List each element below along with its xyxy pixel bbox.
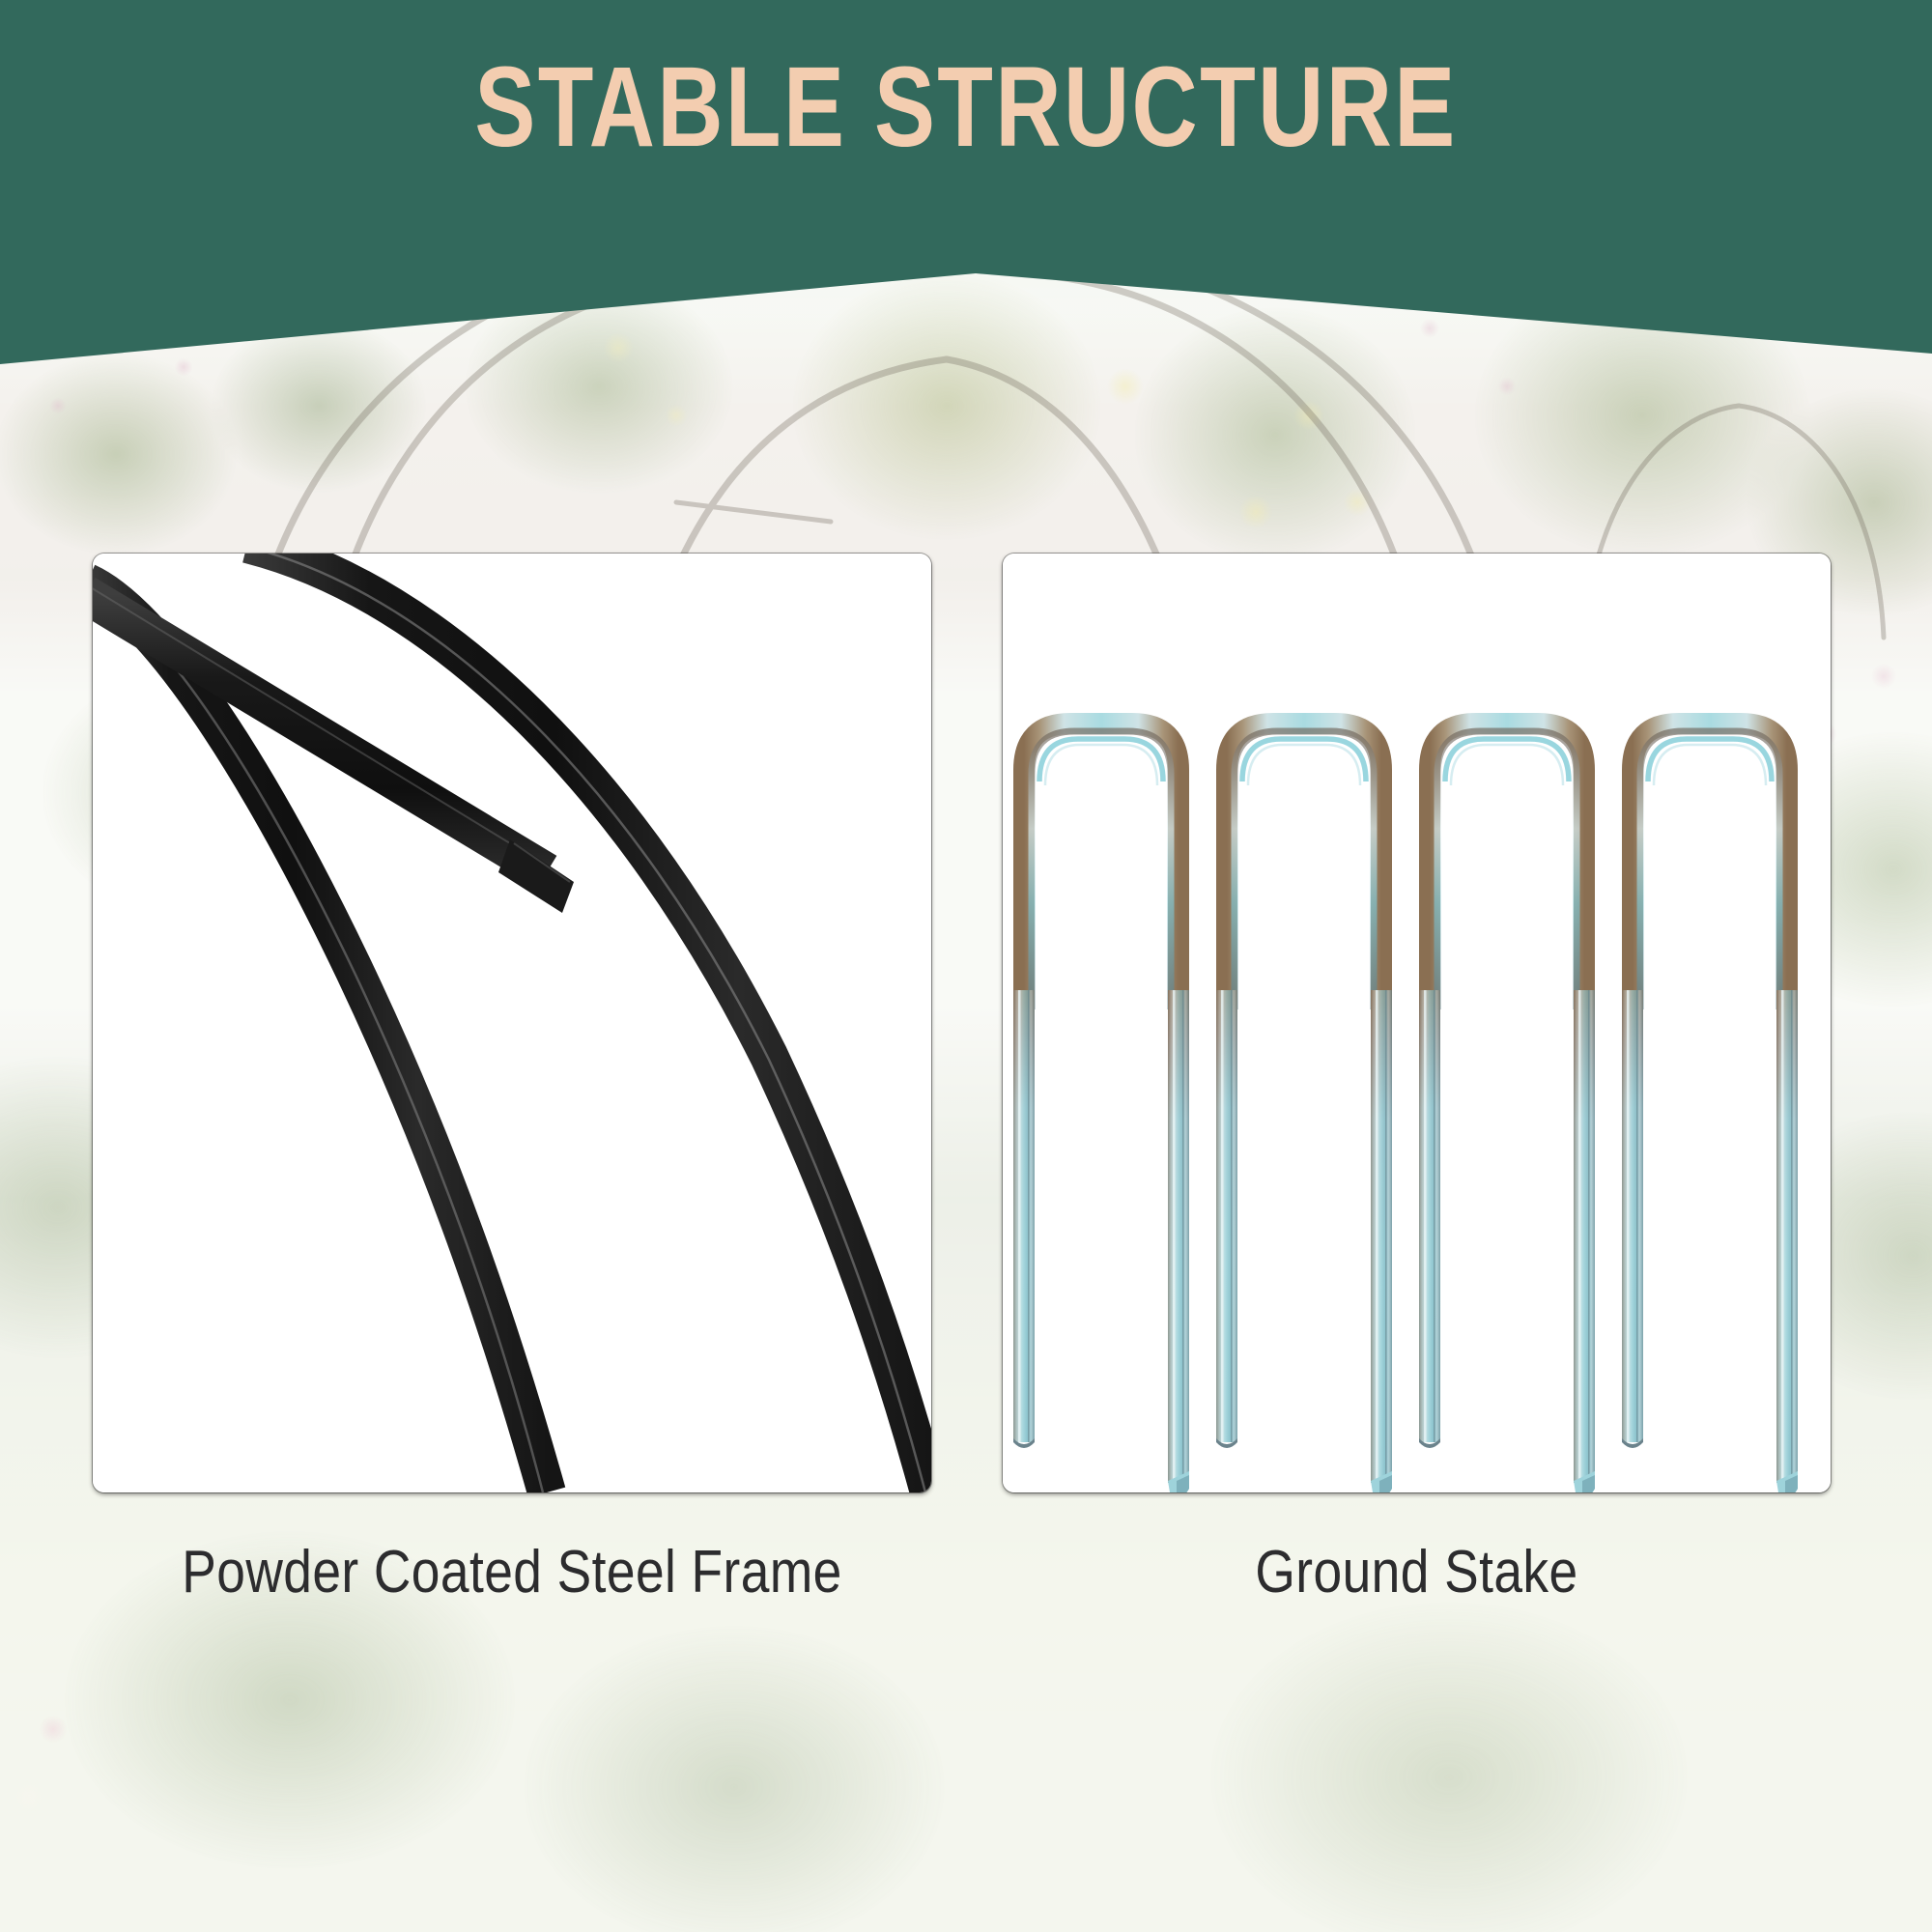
ground-stake-photo	[1003, 554, 1831, 1492]
caption-powder-coated-steel-frame: Powder Coated Steel Frame	[152, 1538, 872, 1606]
panel-ground-stake	[1003, 554, 1831, 1492]
panel-powder-coated-steel-frame	[93, 554, 931, 1492]
page-title: STABLE STRUCTURE	[193, 50, 1739, 164]
steel-frame-photo	[93, 554, 931, 1492]
promo-image-stage: STABLE STRUCTURE	[0, 0, 1932, 1932]
caption-ground-stake: Ground Stake	[1061, 1538, 1773, 1606]
